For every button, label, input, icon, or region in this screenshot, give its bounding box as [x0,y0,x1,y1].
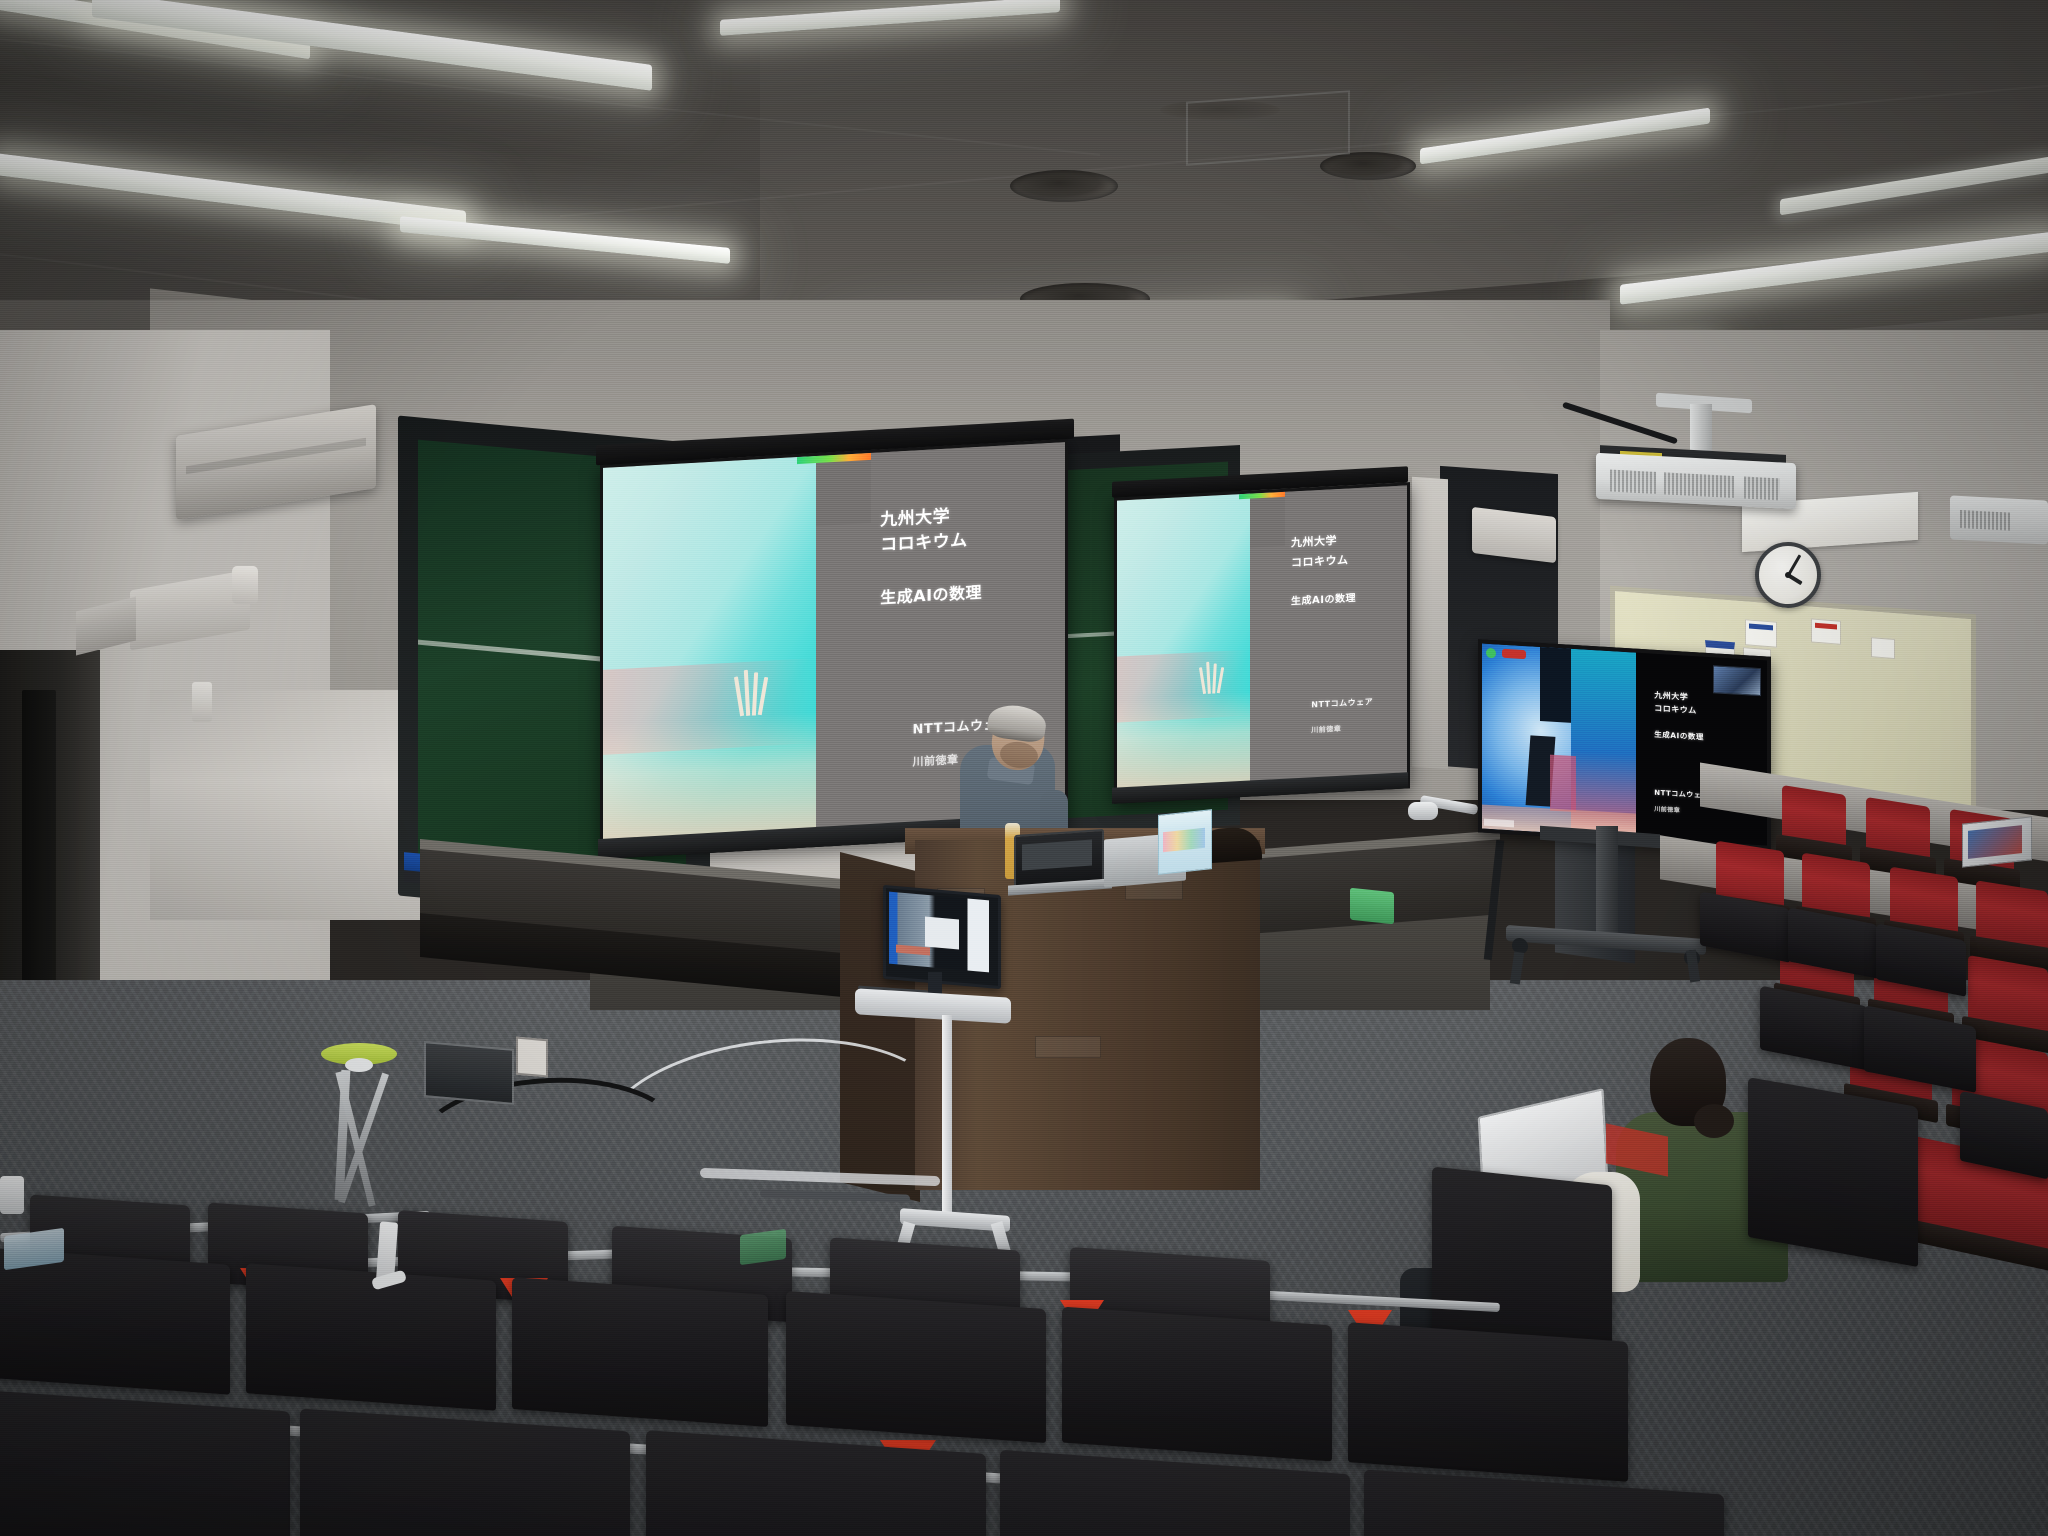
slide-title-line2: コロキウム [1291,553,1349,570]
projector-vent [1744,477,1780,501]
clock-center [1785,572,1791,578]
mic-indicator-icon [1486,648,1496,659]
main-right-projection-screen: 九州大学 コロキウム 生成AIの数理 NTTコムウェア 川前徳章 [1114,482,1410,804]
seat-shell[interactable] [246,1263,496,1410]
slide-presenter-name: 川前徳章 [1311,724,1341,735]
tiered-seat[interactable] [1976,880,2048,959]
slide-notch [1250,492,1285,548]
slide-surface: 九州大学 コロキウム 生成AIの数理 NTTコムウェア 川前徳章 [1117,485,1407,800]
wall-cable-panel[interactable] [424,1041,514,1105]
slide-photo [603,456,816,856]
lecture-hall-photo: 九州大学 コロキウム 生成AIの数理 NTTコムウェア 川前徳章 [0,0,2048,1536]
projector-vent [1664,472,1734,498]
projector-vent [1960,510,2010,531]
tv-slide-presenter: 川前徳章 [1654,805,1680,814]
wall-sensor [232,566,258,604]
projector-vent [1610,469,1656,493]
slide-notch [816,453,871,526]
presenter-laptop-display [1022,840,1092,871]
confidence-monitor-slide-panel [925,917,959,950]
laptop-wallpaper [1968,825,2022,859]
seat-shell[interactable] [512,1277,768,1427]
tv-slide-subtitle: 生成AIの数理 [1654,730,1704,743]
seat-shell[interactable] [786,1291,1046,1443]
tiered-seat[interactable] [1968,955,2048,1043]
tv-video-podium [1550,755,1576,812]
wall-clock [1755,542,1821,608]
seat-shell[interactable] [300,1408,630,1536]
slide-thumbnail [1713,665,1761,696]
slide-title-line1: 九州大学 [880,507,950,533]
seat-shell[interactable] [0,1388,290,1536]
ceiling-speaker [1010,170,1118,202]
bottle-on-seat [0,1176,24,1214]
tiered-seat[interactable] [1782,785,1846,857]
lectern-inlay [1035,1036,1101,1058]
tv-slide-pane: 九州大学 コロキウム 生成AIの数理 NTTコムウェア 川前徳章 [1636,653,1767,846]
seat-shell[interactable] [0,1247,230,1394]
podium-light-head [1408,802,1438,820]
attendee-hair-bun [1694,1104,1734,1138]
slide-photo [1117,494,1250,801]
seat-shell[interactable] [1062,1307,1332,1462]
left-wall-slot [22,690,56,1020]
rec-indicator-icon [1502,649,1526,659]
tv-cart-pole [1596,826,1618,941]
tv-video-dark-block [1540,647,1574,723]
secondary-projector [1950,495,2048,544]
green-equipment-box [1350,888,1394,925]
tv-screen-content: 九州大学 コロキウム 生成AIの数理 NTTコムウェア 川前徳章 [1482,644,1767,846]
door-jamb [1412,477,1448,770]
wall-bracket [192,682,212,722]
slide-presenter-name: 川前徳章 [913,753,959,770]
tv-video-tile [1482,644,1636,838]
seat-shell[interactable] [1748,1077,1918,1267]
slide-title-line1: 九州大学 [1291,534,1337,550]
video-conference-display[interactable]: 九州大学 コロキウム 生成AIの数理 NTTコムウェア 川前徳章 [1478,639,1771,849]
notice [1745,619,1777,648]
wall-outlet-plate[interactable] [516,1037,548,1078]
seat-shell[interactable] [1348,1322,1628,1482]
notice [1811,618,1841,644]
tiered-seat[interactable] [1866,797,1930,869]
ceiling-speaker [1320,152,1416,180]
notice [1871,637,1895,659]
slide-photo-pencils [735,668,775,716]
tv-video-right-band [1571,649,1636,838]
tv-slide-line2: コロキウム [1654,704,1697,717]
tv-slide-line1: 九州大学 [1654,691,1688,703]
ceiling-panel-outline [1186,90,1350,165]
slide-photo-pencils [1200,661,1228,694]
